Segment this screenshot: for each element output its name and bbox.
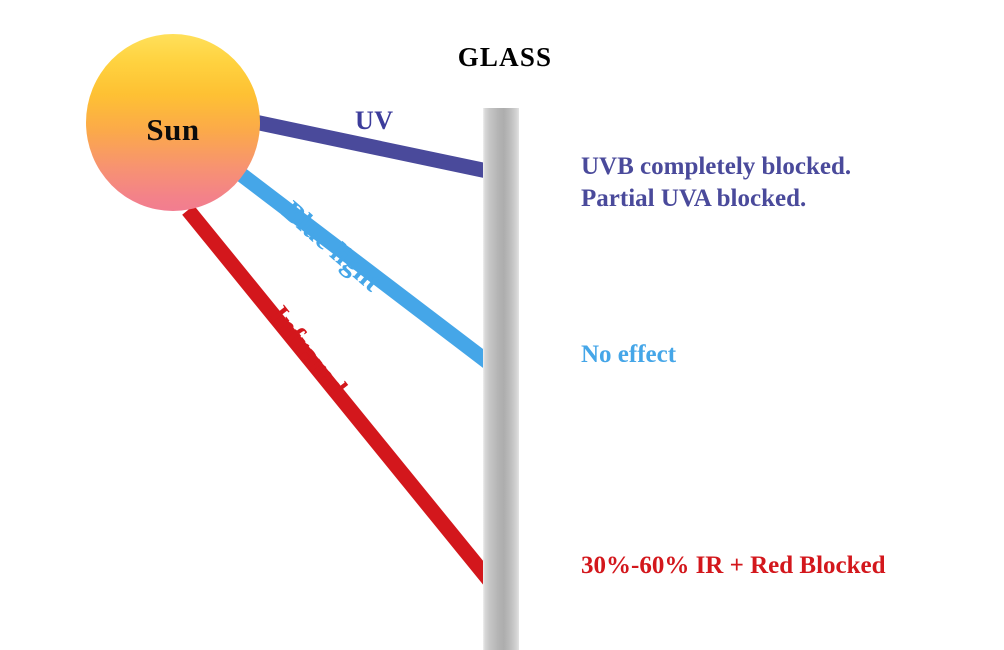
glass-pane — [483, 108, 519, 650]
uv-effect-note: UVB completely blocked. Partial UVA bloc… — [581, 151, 851, 214]
glass-title: GLASS — [430, 42, 580, 73]
sun-label: Sun — [146, 112, 199, 148]
solar-radiation-glass-diagram: Sun GLASS UV Blue light Infrared UVB com… — [0, 0, 1004, 650]
blue-light-effect-note: No effect — [581, 339, 676, 371]
infrared-effect-note: 30%-60% IR + Red Blocked — [581, 550, 886, 582]
sun-circle: Sun — [86, 34, 260, 211]
uv-ray-label: UV — [355, 106, 394, 136]
